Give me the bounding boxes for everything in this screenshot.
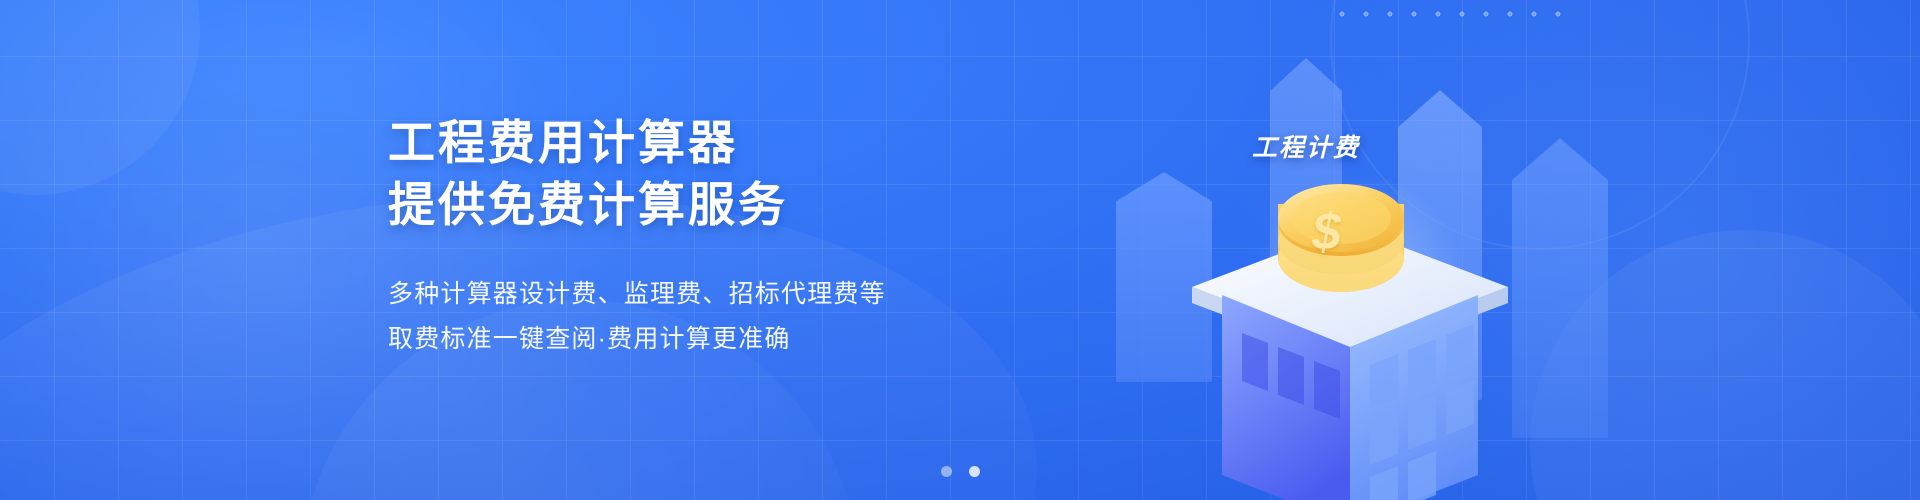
banner-headline-line-1: 工程费用计算器 [388, 112, 1028, 174]
hero-illustration: 工程计费 [1060, 20, 1620, 500]
banner-headline-line-2: 提供免费计算服务 [388, 174, 1028, 236]
decor-building-bar-4 [1512, 138, 1608, 438]
banner-subtext-line-1: 多种计算器设计费、监理费、招标代理费等 [388, 272, 1028, 317]
dollar-symbol-icon: $ [1312, 202, 1341, 262]
carousel-dot-1[interactable] [941, 466, 952, 477]
illustration-badge-label: 工程计费 [1252, 128, 1360, 164]
carousel-dot-2[interactable] [969, 466, 980, 477]
gold-coin-stack-icon [1276, 180, 1406, 300]
banner-subtext-line-2: 取费标准一键查阅·费用计算更准确 [388, 317, 1028, 362]
carousel-dots [0, 466, 1920, 477]
banner-copy: 工程费用计算器 提供免费计算服务 多种计算器设计费、监理费、招标代理费等 取费标… [388, 112, 1028, 362]
decor-circle-top-left [0, 0, 200, 195]
hero-banner: 工程费用计算器 提供免费计算服务 多种计算器设计费、监理费、招标代理费等 取费标… [0, 0, 1920, 500]
